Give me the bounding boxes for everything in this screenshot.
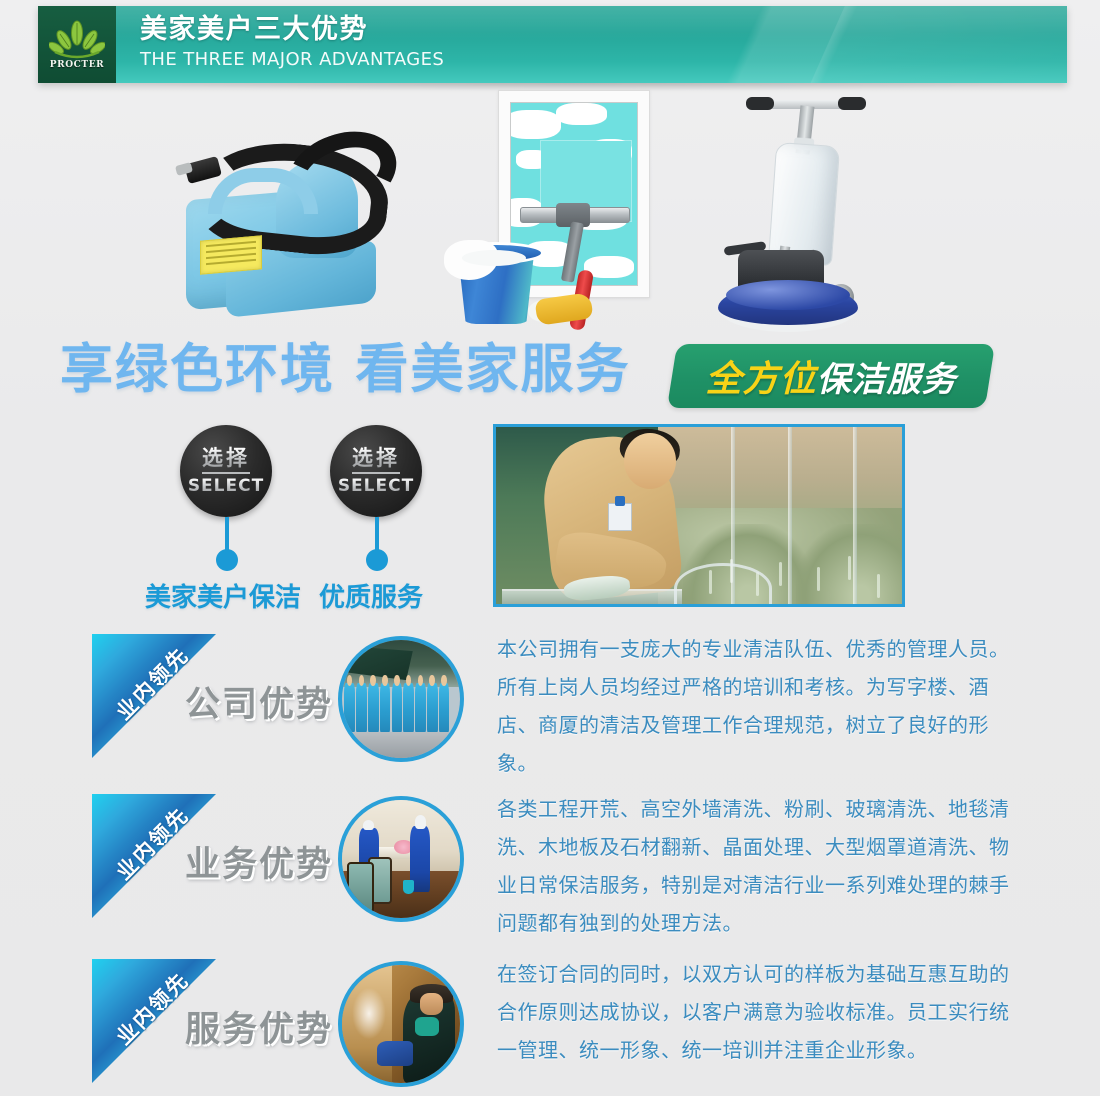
select-circle-icon: 选择 SELECT — [330, 425, 422, 517]
product-image-row — [0, 86, 1100, 336]
select-badge-1-en: SELECT — [188, 476, 264, 496]
header-title-en: THE THREE MAJOR ADVANTAGES — [140, 47, 444, 72]
full-service-badge: 全方位 保洁服务 — [667, 344, 995, 408]
badge-text-secondary: 保洁服务 — [817, 352, 957, 401]
bucket-foam-overflow — [462, 250, 526, 266]
advantage-section-1: 业内领先 公司优势 本公司拥有一支庞大的专业清洁队伍、优秀的管理人员。所有上岗人… — [0, 634, 1100, 784]
window-squeegee-image — [498, 90, 658, 326]
pin-dot-icon — [216, 549, 238, 571]
team-lineup-photo — [338, 636, 464, 762]
photo-shrub-2 — [796, 524, 905, 604]
polisher-grip-left — [746, 97, 774, 110]
header-banner: PROCTER 美家美户三大优势 THE THREE MAJOR ADVANTA… — [38, 6, 1067, 83]
advantage-text-3: 在签订合同的同时，以双方认可的样板为基础互惠互助的合作原则达成协议，以客户满意为… — [497, 955, 1012, 1069]
pin-dot-icon — [366, 549, 388, 571]
select-circle-icon: 选择 SELECT — [180, 425, 272, 517]
ulv-sprayer-image — [168, 98, 408, 323]
select-badge-2-label: 优质服务 — [319, 577, 423, 614]
sprayer-spec-label — [200, 235, 262, 274]
worker-head — [624, 433, 676, 489]
select-badge-2-cn: 选择 — [352, 446, 400, 474]
leaf-crown-icon — [49, 20, 105, 64]
interior-cleaning-photo — [338, 796, 464, 922]
advantage-title-2: 业务优势 — [185, 836, 333, 887]
badge-text-primary: 全方位 — [705, 350, 816, 402]
pin-stem — [375, 517, 379, 553]
window-mullion-2 — [788, 427, 792, 604]
advantage-text-2: 各类工程开荒、高空外墙清洗、粉刷、玻璃清洗、地毯清洗、木地板及石材翻新、晶面处理… — [497, 790, 1012, 942]
polisher-base-highlight — [726, 280, 850, 310]
advantage-title-3: 服务优势 — [185, 1001, 333, 1052]
promo-page: PROCTER 美家美户三大优势 THE THREE MAJOR ADVANTA… — [0, 0, 1100, 1096]
select-badge-1-label: 美家美户保洁 — [145, 577, 301, 614]
main-headline: 享绿色环境 看美家服务 — [60, 338, 630, 402]
pin-stem — [225, 517, 229, 553]
staff-cleaning-glass-table-photo — [493, 424, 905, 607]
advantage-section-2: 业内领先 业务优势 各类工程开荒、高空外墙清洗、粉刷、玻璃清洗、地毯清洗、木地板… — [0, 794, 1100, 944]
advantage-text-1: 本公司拥有一支庞大的专业清洁队伍、优秀的管理人员。所有上岗人员均经过严格的培训和… — [497, 630, 1012, 782]
select-badge-group: 选择 SELECT 美家美户保洁 选择 SELECT 优质服务 — [0, 425, 480, 625]
glass-chair — [674, 563, 772, 607]
header-title-cn: 美家美户三大优势 — [140, 13, 444, 47]
select-badge-2-en: SELECT — [338, 476, 414, 496]
polisher-solution-tank — [768, 142, 840, 266]
advantage-section-3: 业内领先 服务优势 在签订合同的同时，以双方认可的样板为基础互惠互助的合作原则达… — [0, 959, 1100, 1096]
polisher-grip-right — [838, 97, 866, 110]
advantage-title-1: 公司优势 — [185, 676, 333, 727]
select-badge-2[interactable]: 选择 SELECT 优质服务 — [330, 425, 430, 517]
logo-wordmark: PROCTER — [50, 60, 105, 70]
wall-spraying-photo — [338, 961, 464, 1087]
company-logo: PROCTER — [38, 6, 116, 83]
select-badge-1[interactable]: 选择 SELECT 美家美户保洁 — [180, 425, 280, 517]
worker-id-badge — [608, 503, 632, 531]
floor-polisher-image — [716, 86, 906, 332]
select-badge-1-cn: 选择 — [202, 446, 250, 474]
window-mullion-3 — [853, 427, 857, 604]
header-text-group: 美家美户三大优势 THE THREE MAJOR ADVANTAGES — [140, 13, 444, 72]
